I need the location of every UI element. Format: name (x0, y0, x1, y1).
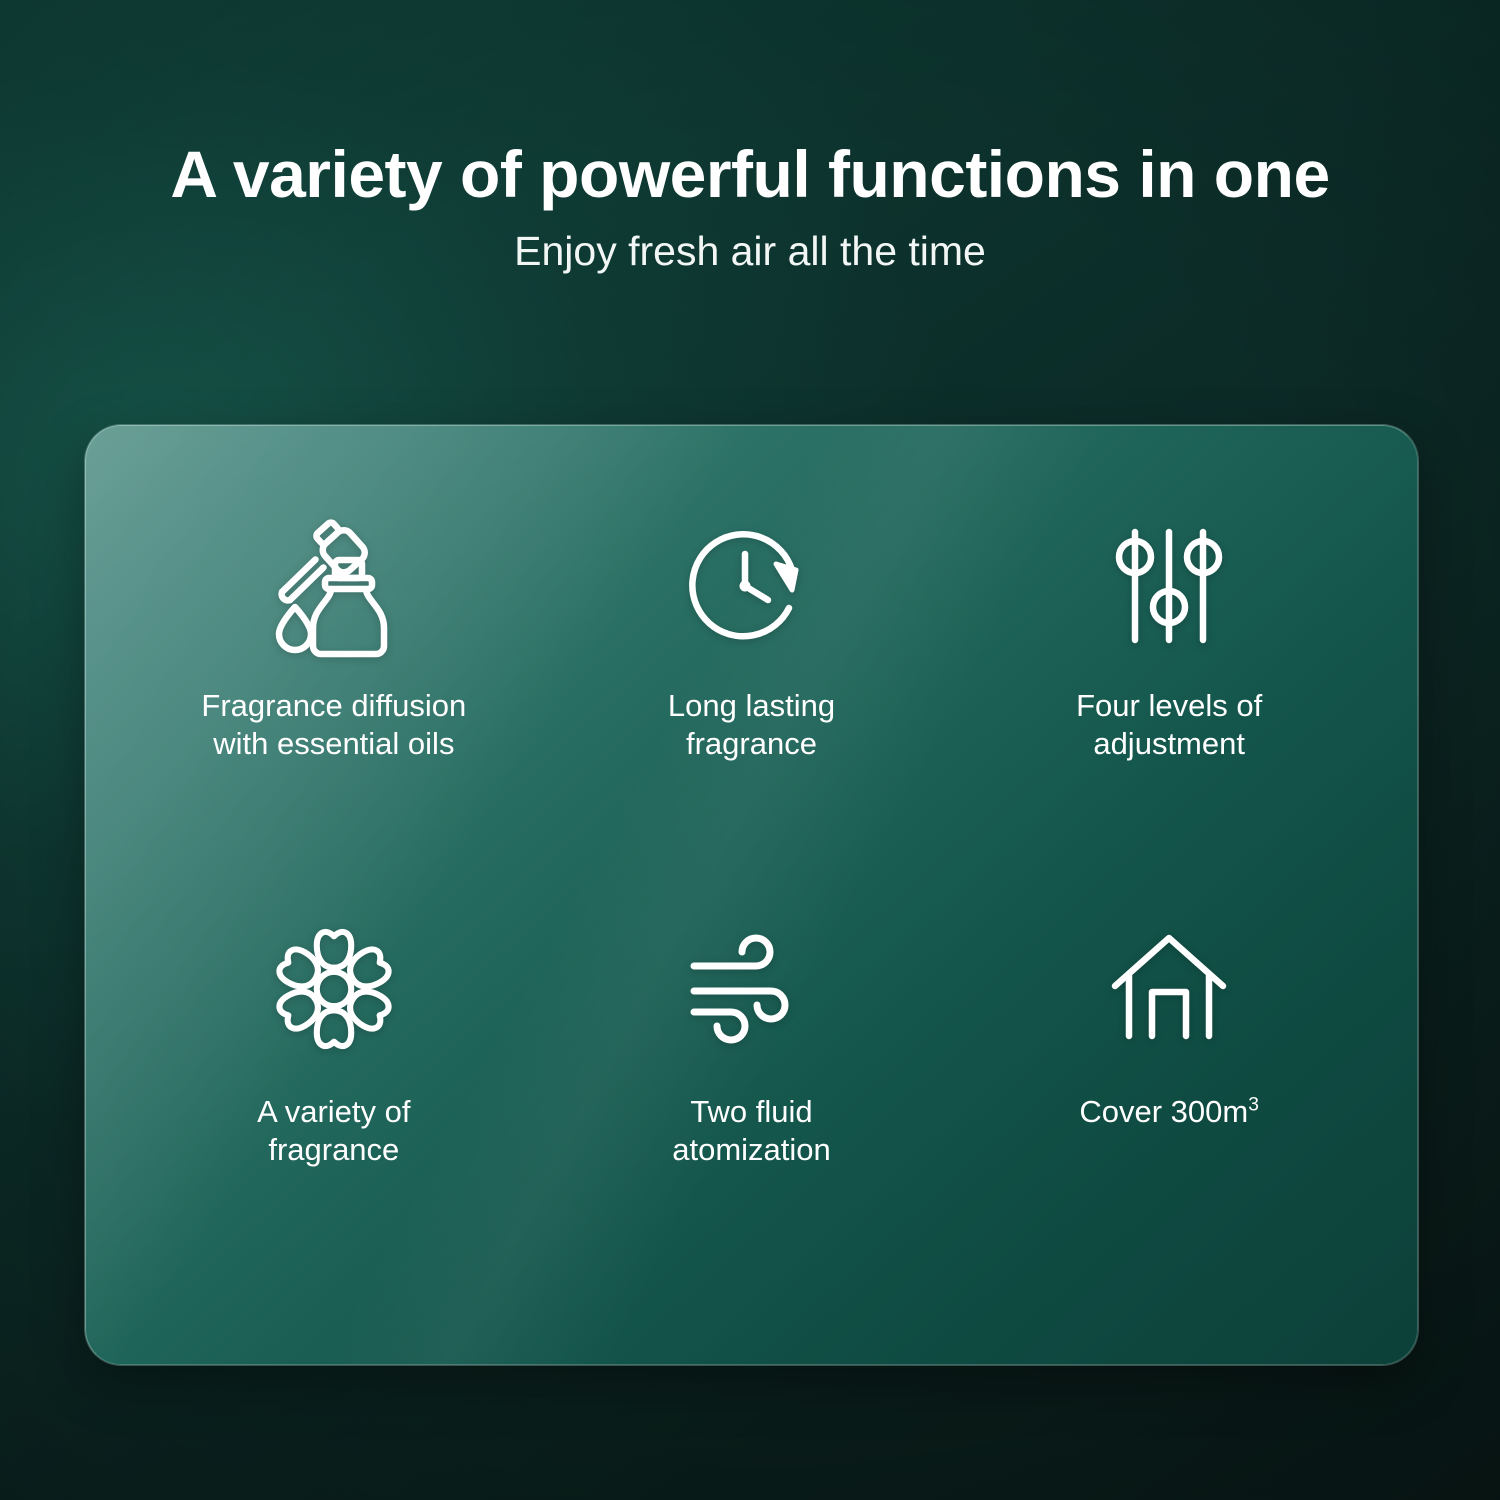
coverage-superscript: 3 (1248, 1095, 1259, 1116)
coverage-value: Cover 300m (1079, 1094, 1248, 1129)
page-subtitle: Enjoy fresh air all the time (0, 229, 1500, 274)
feature-label: Long lasting fragrance (668, 687, 835, 763)
feature-item-two-fluid: Two fluid atomization (543, 901, 961, 1299)
sliders-icon (1094, 503, 1244, 671)
page-title: A variety of powerful functions in one (0, 140, 1500, 209)
feature-label: A variety of fragrance (257, 1093, 410, 1169)
feature-label: Four levels of adjustment (1076, 687, 1262, 763)
header: A variety of powerful functions in one E… (0, 140, 1500, 274)
feature-item-variety-fragrance: A variety of fragrance (125, 901, 543, 1299)
feature-grid: Fragrance diffusion with essential oils (85, 425, 1418, 1365)
dropper-bottle-icon (259, 503, 409, 671)
feature-label: Cover 300m3 (1079, 1093, 1259, 1131)
feature-card: Fragrance diffusion with essential oils (85, 425, 1418, 1365)
flower-icon (258, 901, 410, 1077)
wind-icon (676, 901, 826, 1077)
feature-label: Two fluid atomization (672, 1093, 831, 1169)
feature-item-long-lasting: Long lasting fragrance (543, 503, 961, 901)
house-icon (1094, 901, 1244, 1077)
product-infographic: A variety of powerful functions in one E… (0, 0, 1500, 1500)
feature-item-coverage: Cover 300m3 (960, 901, 1378, 1299)
feature-label: Fragrance diffusion with essential oils (201, 687, 466, 763)
feature-item-fragrance-diffusion: Fragrance diffusion with essential oils (125, 503, 543, 901)
clock-arrow-icon (676, 503, 826, 671)
feature-item-four-levels: Four levels of adjustment (960, 503, 1378, 901)
